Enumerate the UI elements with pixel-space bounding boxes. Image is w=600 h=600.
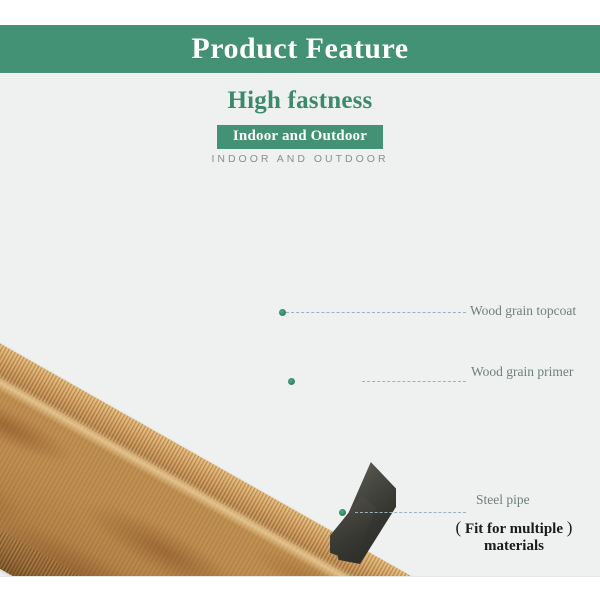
product-feature-page: Product Feature High fastness Indoor and… (0, 0, 600, 600)
header-banner: Product Feature (0, 25, 600, 73)
callout-label-steel: Steel pipe (476, 492, 530, 508)
callout-label-topcoat: Wood grain topcoat (470, 303, 576, 319)
note-close-paren: ) (567, 518, 573, 537)
note-open-paren: ( (456, 518, 462, 537)
page-title: Product Feature (191, 34, 408, 64)
leader-dot-topcoat (279, 309, 286, 316)
leader-line-topcoat (286, 312, 466, 313)
plank-sheen (0, 293, 466, 576)
header-area: Product Feature (0, 0, 600, 74)
leader-dot-primer (288, 378, 295, 385)
materials-note: ( Fit for multiple ) materials (434, 519, 594, 555)
leader-line-primer (362, 381, 466, 382)
leader-line-steel (355, 512, 466, 513)
leader-dot-steel (339, 509, 346, 516)
wood-plank (0, 270, 479, 576)
footer-strip (0, 576, 600, 600)
callout-label-primer: Wood grain primer (471, 364, 573, 380)
note-line-2: materials (434, 538, 594, 555)
note-line-1: Fit for multiple (465, 521, 563, 537)
